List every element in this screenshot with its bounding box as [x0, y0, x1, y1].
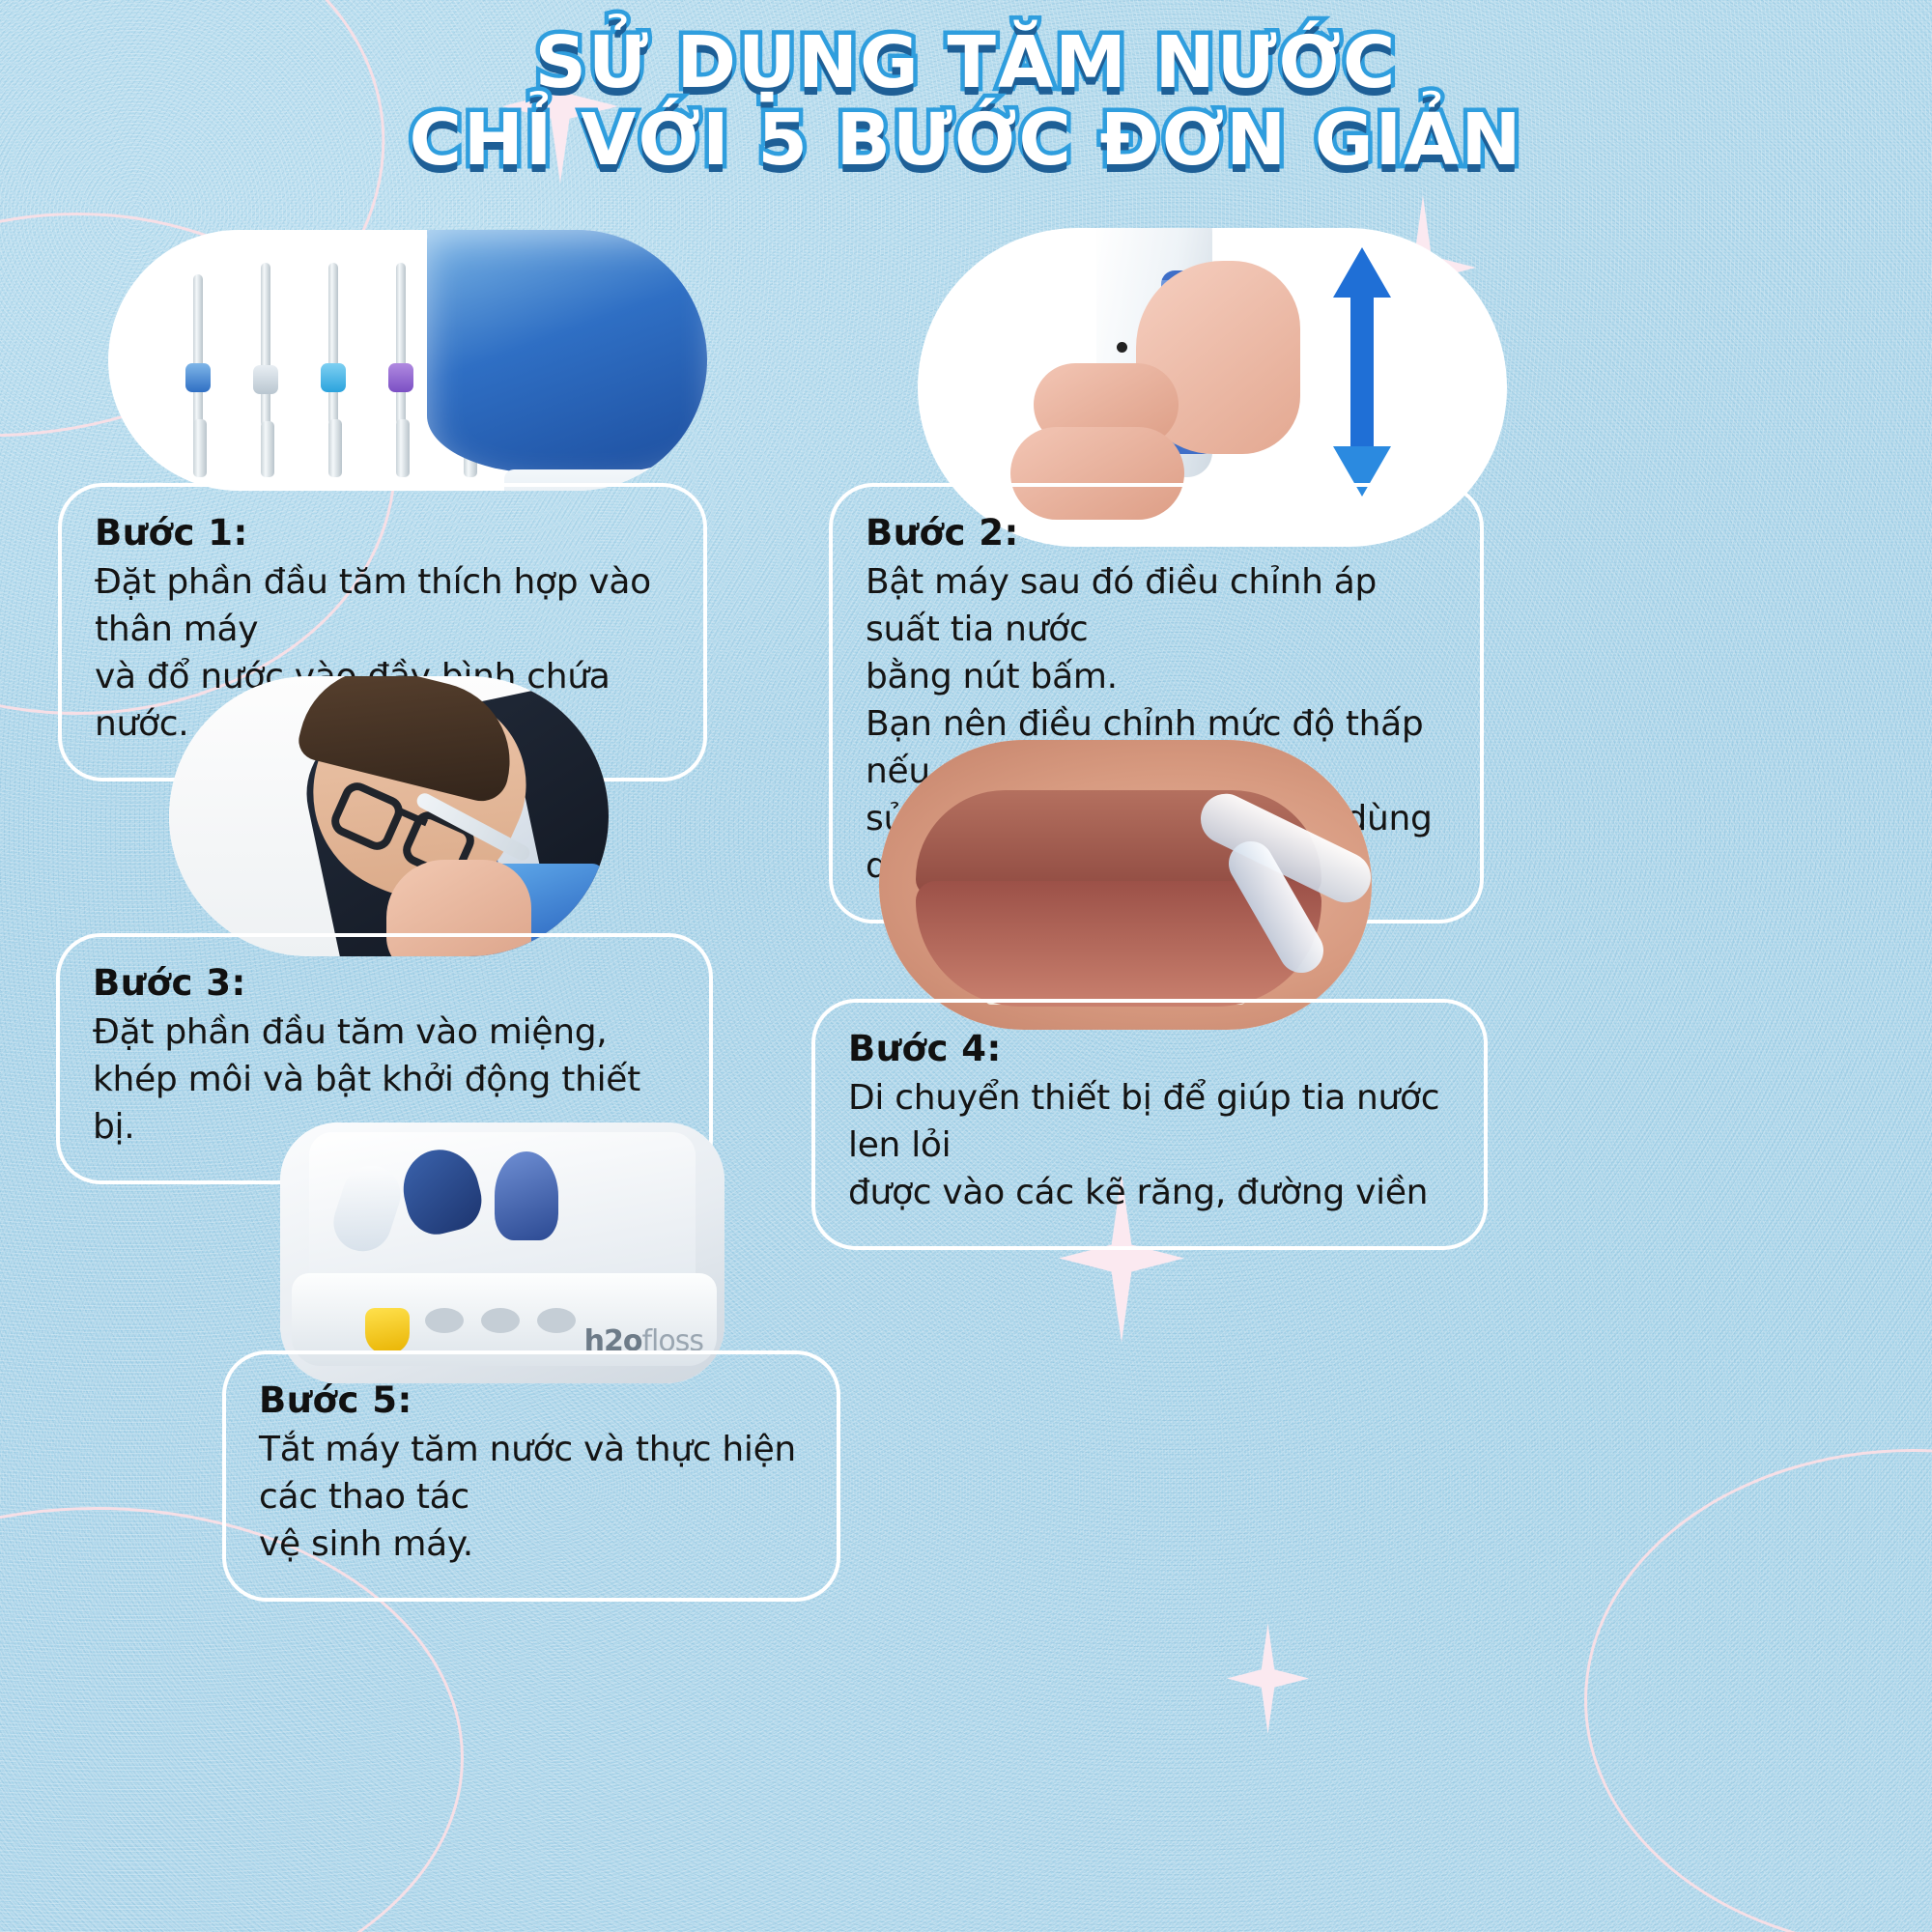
step-1-photo	[108, 230, 707, 491]
step-4-photo	[879, 740, 1372, 1030]
step-5-label: Bước 5:	[259, 1379, 804, 1421]
step-2-label: Bước 2:	[866, 512, 1447, 554]
step-4-body: Di chuyển thiết bị để giúp tia nước len …	[848, 1075, 1451, 1217]
step-3-photo	[169, 676, 609, 956]
mouth-closeup-with-flosser-tip-photo	[879, 740, 1372, 1030]
step-4-caption: Bước 4: Di chuyển thiết bị để giúp tia n…	[811, 999, 1488, 1250]
page-title-line-1: SỬ DỤNG TĂM NƯỚC	[0, 25, 1932, 102]
page-title: SỬ DỤNG TĂM NƯỚC CHỈ VỚI 5 BƯỚC ĐƠN GIẢN	[0, 25, 1932, 180]
step-5-caption: Bước 5: Tắt máy tăm nước và thực hiện cá…	[222, 1350, 840, 1602]
infographic-page: SỬ DỤNG TĂM NƯỚC CHỈ VỚI 5 BƯỚC ĐƠN GIẢN	[0, 0, 1932, 1932]
nozzle-tips-and-water-tank-photo	[108, 230, 707, 491]
page-title-line-2: CHỈ VỚI 5 BƯỚC ĐƠN GIẢN	[0, 102, 1932, 180]
man-using-water-flosser-over-sink-photo	[169, 676, 609, 956]
step-4-label: Bước 4:	[848, 1028, 1451, 1069]
flosser-base-with-nozzles-photo: h2ofloss	[280, 1122, 724, 1383]
step-3-label: Bước 3:	[93, 962, 676, 1004]
step-5-photo: h2ofloss	[280, 1122, 724, 1383]
step-1-label: Bước 1:	[95, 512, 670, 554]
step-5-body: Tắt máy tăm nước và thực hiện các thao t…	[259, 1427, 804, 1569]
